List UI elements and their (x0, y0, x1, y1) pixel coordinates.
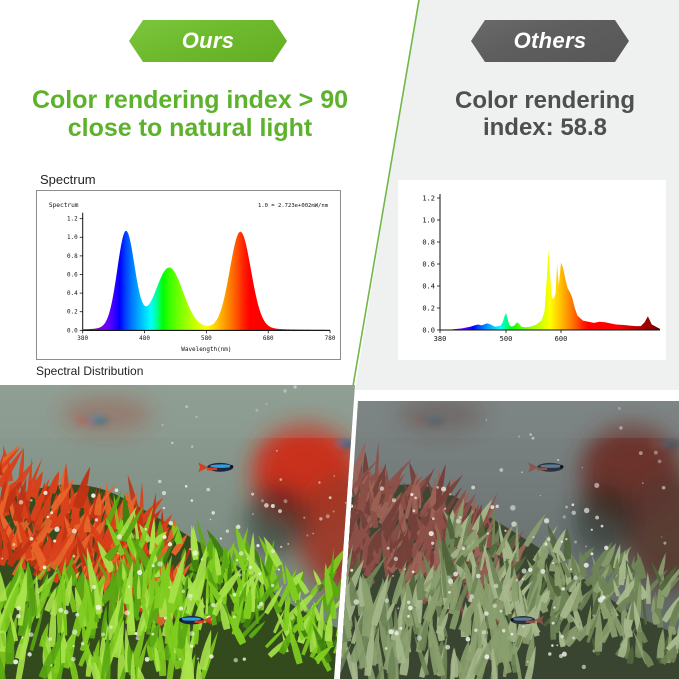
aquarium-photo-dull (340, 385, 679, 679)
ours-badge: Ours (129, 20, 287, 62)
svg-text:0.8: 0.8 (67, 253, 78, 260)
aquarium-photo-vivid-canvas (0, 385, 355, 679)
svg-text:0.2: 0.2 (422, 304, 435, 312)
others-heading: Color rendering index: 58.8 (420, 88, 670, 142)
others-spectrum-chart: 0.00.20.40.60.81.01.2380500600 (398, 180, 666, 360)
svg-text:0.0: 0.0 (67, 327, 78, 334)
aquarium-photo-dull-canvas (340, 385, 679, 679)
svg-text:Wavelength(nm): Wavelength(nm) (181, 346, 231, 353)
ours-heading-line-1: Color rendering index > 90 (16, 86, 364, 114)
ours-heading: Color rendering index > 90 close to natu… (16, 86, 364, 142)
svg-text:1.0: 1.0 (67, 234, 78, 241)
others-heading-line-1: Color rendering (420, 88, 670, 115)
svg-text:1.2: 1.2 (67, 216, 78, 223)
svg-text:1.0: 1.0 (422, 216, 435, 224)
aquarium-photo-vivid (0, 385, 355, 679)
others-heading-line-2: index: 58.8 (420, 115, 670, 142)
svg-text:Spectrum: Spectrum (49, 202, 79, 209)
ours-badge-label: Ours (182, 28, 235, 54)
svg-text:0.8: 0.8 (422, 238, 435, 246)
ours-spectrum-plot: Spectrum1.0 = 2.723e+002mW/nm0.00.20.40.… (37, 191, 340, 359)
svg-text:380: 380 (77, 335, 88, 342)
spectral-distribution-caption: Spectral Distribution (36, 364, 143, 378)
svg-text:380: 380 (434, 335, 447, 343)
svg-text:0.4: 0.4 (422, 282, 435, 290)
ours-heading-line-2: close to natural light (16, 114, 364, 142)
svg-text:0.0: 0.0 (422, 326, 435, 334)
svg-text:0.2: 0.2 (67, 309, 78, 316)
others-badge-label: Others (514, 28, 587, 54)
svg-text:1.2: 1.2 (422, 194, 435, 202)
others-badge: Others (471, 20, 629, 62)
svg-text:580: 580 (201, 335, 212, 342)
svg-text:500: 500 (500, 335, 513, 343)
ours-spectrum-chart: Spectrum1.0 = 2.723e+002mW/nm0.00.20.40.… (36, 190, 341, 360)
spectrum-title: Spectrum (40, 172, 96, 187)
comparison-infographic: Ours Others Color rendering index > 90 c… (0, 0, 679, 679)
svg-text:0.6: 0.6 (67, 271, 78, 278)
svg-text:600: 600 (555, 335, 568, 343)
svg-text:480: 480 (139, 335, 150, 342)
svg-text:680: 680 (263, 335, 274, 342)
svg-text:0.4: 0.4 (67, 290, 78, 297)
others-spectrum-plot: 0.00.20.40.60.81.01.2380500600 (398, 180, 666, 360)
svg-text:1.0 = 2.723e+002mW/nm: 1.0 = 2.723e+002mW/nm (258, 203, 329, 209)
svg-text:780: 780 (325, 335, 336, 342)
svg-text:0.6: 0.6 (422, 260, 435, 268)
